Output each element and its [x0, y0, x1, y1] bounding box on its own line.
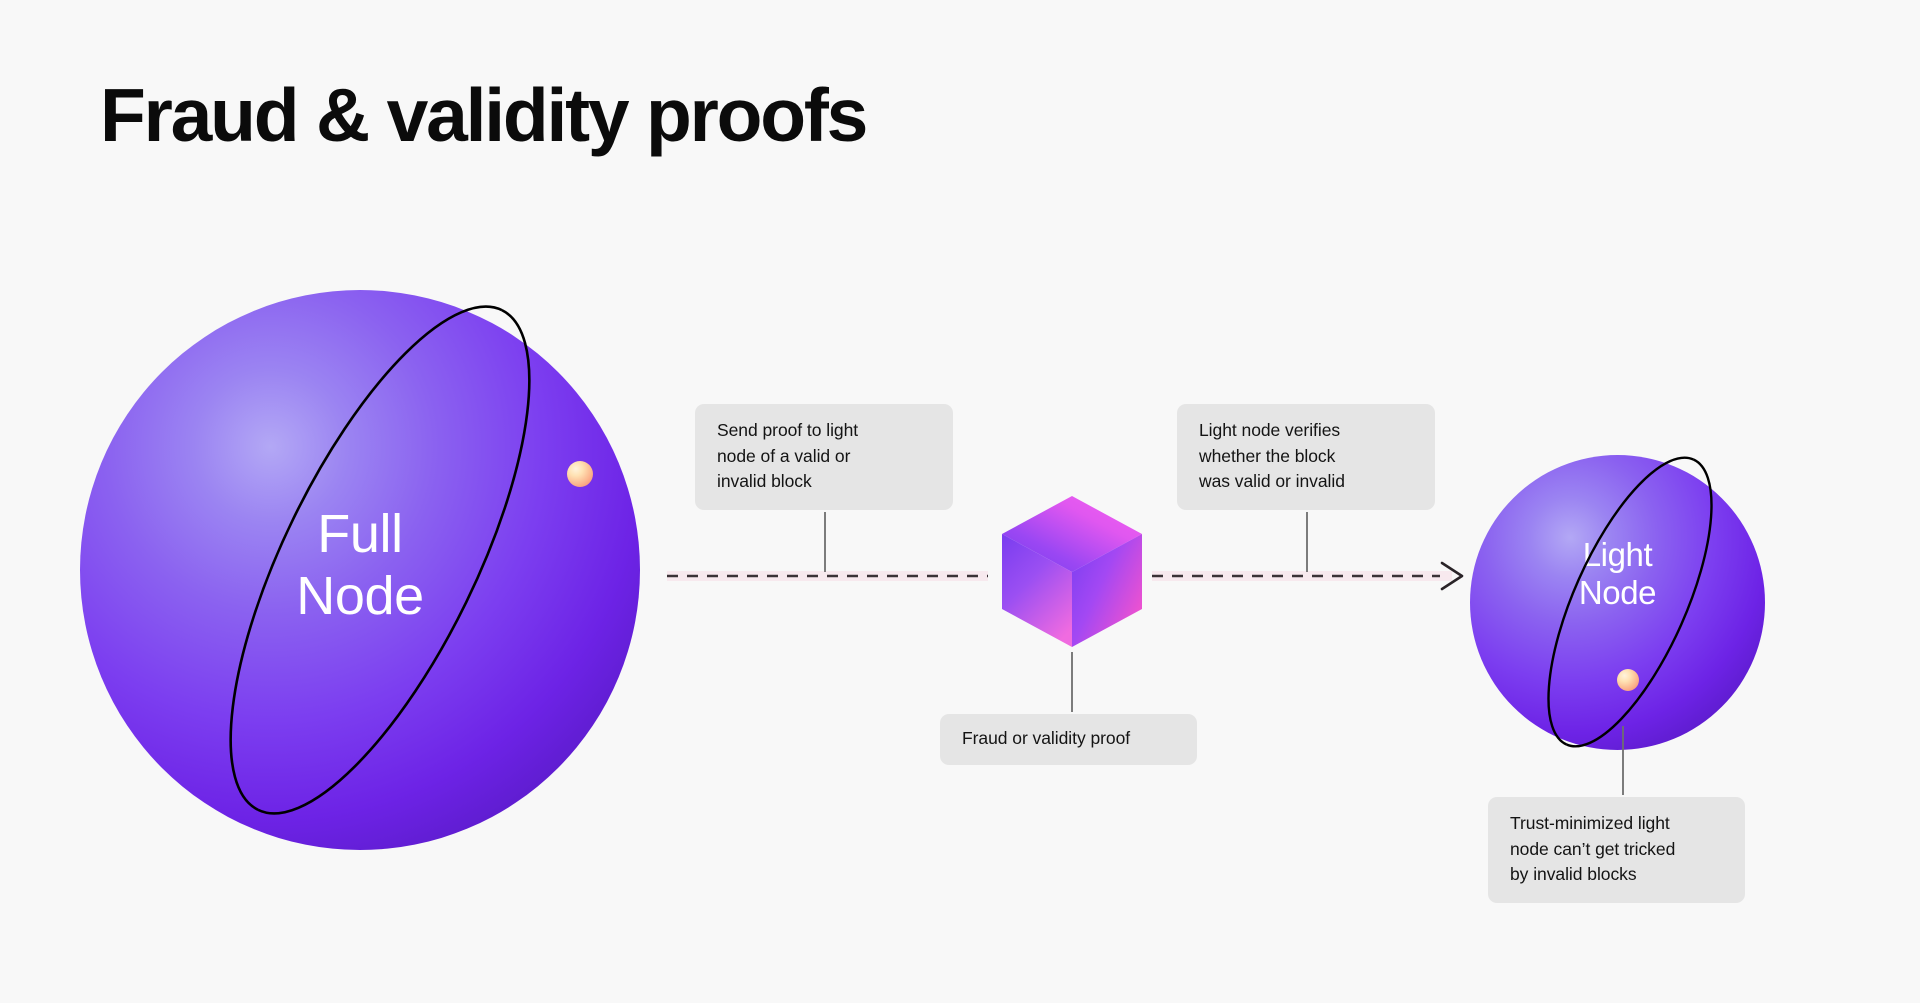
callout-light-node-verifies: Light node verifies whether the block wa…: [1177, 404, 1435, 510]
proof-cube-icon: [1000, 494, 1144, 649]
callout-trust-minimized: Trust-minimized light node can’t get tri…: [1488, 797, 1745, 903]
flow-arrow-head: [1442, 563, 1462, 589]
page-title: Fraud & validity proofs: [100, 78, 866, 153]
light-node-orbit-dot: [1617, 669, 1639, 691]
diagram-canvas: Fraud & validity proofs Full Node Light …: [0, 0, 1920, 1003]
callout-fraud-or-validity-proof: Fraud or validity proof: [940, 714, 1197, 765]
callout-send-proof: Send proof to light node of a valid or i…: [695, 404, 953, 510]
full-node-orbit-dot: [567, 461, 593, 487]
full-node-sphere: [80, 290, 640, 850]
light-node-sphere: [1470, 455, 1765, 750]
